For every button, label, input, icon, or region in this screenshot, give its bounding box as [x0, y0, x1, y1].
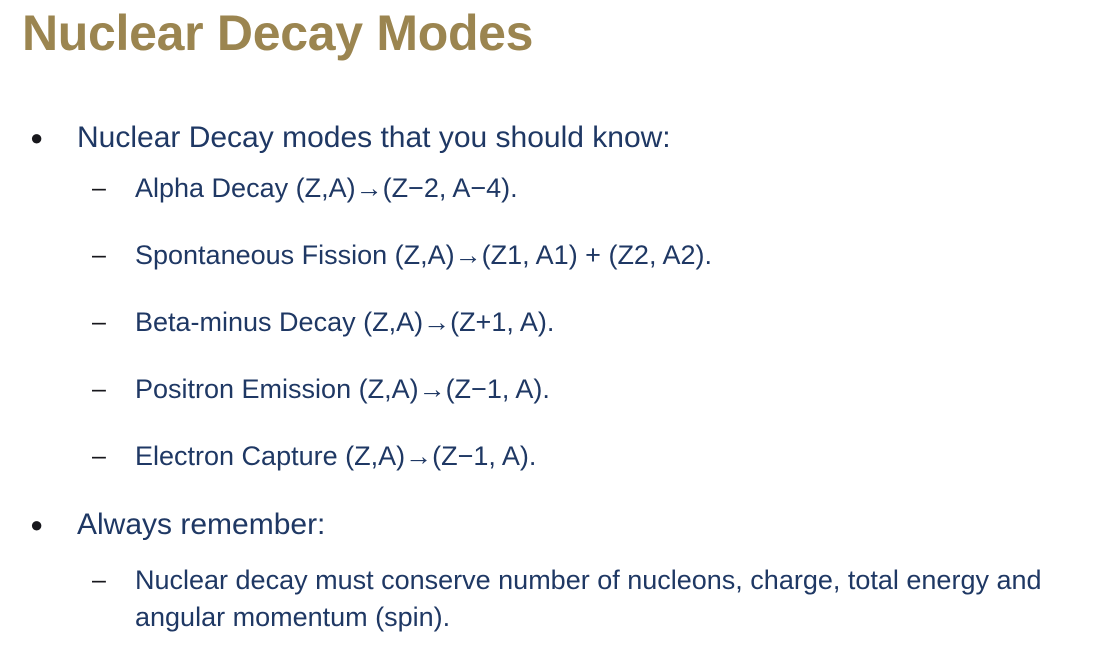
- bullet-dot-icon: ●: [30, 118, 50, 158]
- dash-icon: –: [92, 371, 122, 407]
- sub-bullet-positron-emission: – Positron Emission (Z,A)→(Z−1, A).: [0, 371, 1118, 407]
- bullet-decay-modes-intro: ● Nuclear Decay modes that you should kn…: [0, 118, 1118, 158]
- dash-icon: –: [92, 170, 122, 206]
- bullet-always-remember: ● Always remember:: [0, 505, 1118, 545]
- sub-bullet-spontaneous-fission: – Spontaneous Fission (Z,A)→(Z1, A1) + (…: [0, 237, 1118, 273]
- sub-bullet-electron-capture: – Electron Capture (Z,A)→(Z−1, A).: [0, 438, 1118, 474]
- sub-bullet-label: Positron Emission (Z,A)→(Z−1, A).: [135, 371, 1118, 407]
- sub-bullet-label: Alpha Decay (Z,A)→(Z−2, A−4).: [135, 170, 1118, 206]
- slide-body-list: ● Nuclear Decay modes that you should kn…: [0, 118, 1118, 636]
- sub-bullet-label: Electron Capture (Z,A)→(Z−1, A).: [135, 438, 1118, 474]
- sub-bullet-label: Spontaneous Fission (Z,A)→(Z1, A1) + (Z2…: [135, 237, 1118, 273]
- bullet-label: Nuclear Decay modes that you should know…: [77, 118, 1118, 158]
- sub-bullet-alpha-decay: – Alpha Decay (Z,A)→(Z−2, A−4).: [0, 170, 1118, 206]
- sub-bullet-label: Beta-minus Decay (Z,A)→(Z+1, A).: [135, 304, 1118, 340]
- sub-bullet-conservation-laws: – Nuclear decay must conserve number of …: [0, 562, 1118, 636]
- page-title: Nuclear Decay Modes: [22, 2, 1082, 64]
- dash-icon: –: [92, 237, 122, 273]
- sub-bullet-label: Nuclear decay must conserve number of nu…: [135, 562, 1096, 636]
- dash-icon: –: [92, 304, 122, 340]
- dash-icon: –: [92, 562, 122, 598]
- dash-icon: –: [92, 438, 122, 474]
- bullet-dot-icon: ●: [30, 505, 50, 545]
- bullet-label: Always remember:: [77, 505, 1118, 545]
- slide: Nuclear Decay Modes ● Nuclear Decay mode…: [0, 0, 1118, 663]
- sub-bullet-beta-minus-decay: – Beta-minus Decay (Z,A)→(Z+1, A).: [0, 304, 1118, 340]
